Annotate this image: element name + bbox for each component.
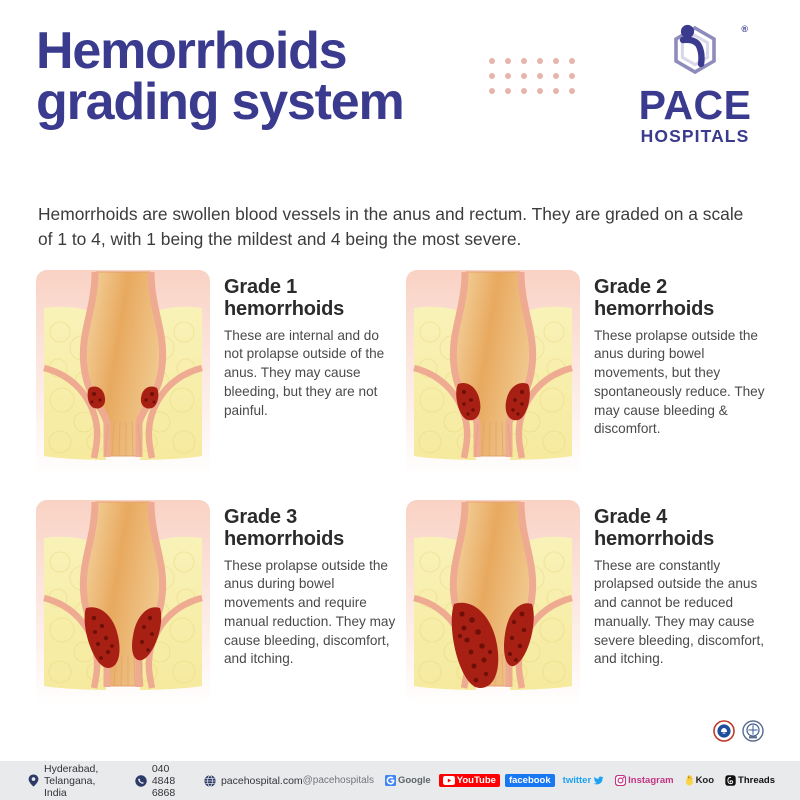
social-twitter[interactable]: twitter: [560, 774, 608, 788]
youtube-icon: [443, 776, 455, 785]
grades-row-1: Grade 1 hemorrhoids These are internal a…: [34, 270, 766, 482]
grade-card-1: Grade 1 hemorrhoids These are internal a…: [34, 270, 396, 482]
page-title: Hemorrhoids grading system: [36, 26, 506, 128]
globe-icon: [204, 775, 216, 787]
decorative-dot: [537, 88, 543, 94]
grade-4-text: Grade 4 hemorrhoids These are constantly…: [594, 500, 766, 712]
grade-2-description: These prolapse outside the anus during b…: [594, 327, 766, 440]
page-title-line-2: grading system: [36, 77, 506, 128]
grade-2-title-line-1: Grade 2: [594, 276, 667, 298]
grades-grid: Grade 1 hemorrhoids These are internal a…: [0, 270, 800, 712]
threads-icon: [725, 775, 736, 786]
decorative-dot: [569, 58, 575, 64]
pace-hospitals-logo: ® PACE HOSPITALS: [620, 22, 770, 146]
nabl-accreditation-badge-icon: [742, 720, 764, 742]
footer-social: @pacehospitals Google YouTube facebook: [303, 773, 800, 788]
decorative-dot: [553, 73, 559, 79]
footer-contacts: Hyderabad, Telangana, India 040 4848 686…: [0, 763, 303, 799]
grade-3-title-line-1: Grade 3: [224, 506, 297, 528]
decorative-dot: [489, 88, 495, 94]
social-facebook[interactable]: facebook: [505, 774, 555, 788]
social-koo-label: Koo: [696, 776, 714, 786]
grade-1-illustration: [34, 270, 212, 482]
social-youtube-label: YouTube: [457, 776, 496, 786]
footer-phone[interactable]: 040 4848 6868: [135, 763, 187, 799]
grade-1-text: Grade 1 hemorrhoids These are internal a…: [224, 270, 396, 482]
decorative-dot: [537, 73, 543, 79]
anorectal-cross-section-grade-3-icon: [34, 500, 212, 712]
footer-website-label: pacehospital.com: [221, 775, 303, 787]
decorative-dot: [489, 73, 495, 79]
koo-bird-icon: [685, 775, 694, 786]
social-google-label: Google: [398, 776, 431, 786]
footer-location[interactable]: Hyderabad, Telangana, India: [28, 763, 118, 799]
anorectal-cross-section-grade-2-icon: [404, 270, 582, 482]
hexagon-person-logo-icon: [664, 22, 726, 82]
decorative-dot: [569, 73, 575, 79]
grade-3-title: Grade 3 hemorrhoids: [224, 506, 396, 551]
social-threads-label: Threads: [738, 776, 775, 786]
social-instagram[interactable]: Instagram: [612, 773, 676, 788]
decorative-dot: [505, 73, 511, 79]
decorative-dot: [553, 58, 559, 64]
instagram-icon: [615, 775, 626, 786]
decorative-dot: [521, 88, 527, 94]
decorative-dot-grid: [489, 58, 585, 103]
grade-3-description: These prolapse outside the anus during b…: [224, 557, 396, 670]
grade-2-title-line-2: hemorrhoids: [594, 298, 714, 320]
decorative-dot: [553, 88, 559, 94]
google-icon: [385, 775, 396, 786]
social-threads[interactable]: Threads: [722, 773, 778, 788]
page-title-line-1: Hemorrhoids: [36, 22, 346, 80]
grade-4-illustration: [404, 500, 582, 712]
social-koo[interactable]: Koo: [682, 773, 717, 788]
grade-card-4: Grade 4 hemorrhoids These are constantly…: [404, 500, 766, 712]
footer-phone-label: 040 4848 6868: [152, 763, 187, 799]
decorative-dot: [489, 58, 495, 64]
anorectal-cross-section-grade-4-icon: [404, 500, 582, 712]
footer-website[interactable]: pacehospital.com: [204, 775, 303, 787]
accreditation-badges: [713, 720, 764, 742]
grade-1-title-line-2: hemorrhoids: [224, 298, 344, 320]
anorectal-cross-section-grade-1-icon: [34, 270, 212, 482]
grade-2-text: Grade 2 hemorrhoids These prolapse outsi…: [594, 270, 766, 482]
grade-card-3: Grade 3 hemorrhoids These prolapse outsi…: [34, 500, 396, 712]
logo-subword: HOSPITALS: [620, 128, 770, 146]
grades-row-2: Grade 3 hemorrhoids These prolapse outsi…: [34, 500, 766, 712]
decorative-dot: [537, 58, 543, 64]
grade-2-title: Grade 2 hemorrhoids: [594, 276, 766, 321]
footer-location-label: Hyderabad, Telangana, India: [44, 763, 118, 799]
grade-4-title: Grade 4 hemorrhoids: [594, 506, 766, 551]
grade-1-title: Grade 1 hemorrhoids: [224, 276, 396, 321]
infographic-page: Hemorrhoids grading system ® PACE HOSPIT…: [0, 0, 800, 800]
grade-4-title-line-2: hemorrhoids: [594, 528, 714, 550]
grade-3-illustration: [34, 500, 212, 712]
social-youtube[interactable]: YouTube: [439, 774, 500, 788]
grade-1-description: These are internal and do not prolapse o…: [224, 327, 396, 421]
social-instagram-label: Instagram: [628, 776, 673, 786]
registered-trademark-icon: ®: [741, 24, 748, 34]
grade-4-title-line-1: Grade 4: [594, 506, 667, 528]
decorative-dot: [521, 58, 527, 64]
intro-paragraph: Hemorrhoids are swollen blood vessels in…: [0, 202, 800, 252]
logo-wordmark: PACE: [620, 85, 770, 126]
grade-4-description: These are constantly prolapsed outside t…: [594, 557, 766, 670]
decorative-dot: [521, 73, 527, 79]
decorative-dot: [505, 58, 511, 64]
grade-3-text: Grade 3 hemorrhoids These prolapse outsi…: [224, 500, 396, 712]
decorative-dot: [569, 88, 575, 94]
grade-3-title-line-2: hemorrhoids: [224, 528, 344, 550]
grade-card-2: Grade 2 hemorrhoids These prolapse outsi…: [404, 270, 766, 482]
decorative-dot: [505, 88, 511, 94]
social-twitter-label: twitter: [563, 776, 592, 786]
phone-icon: [135, 775, 147, 787]
footer-bar: Hyderabad, Telangana, India 040 4848 686…: [0, 761, 800, 800]
logo-mark: ®: [620, 22, 770, 84]
nabh-accreditation-badge-icon: [713, 720, 735, 742]
social-facebook-label: facebook: [509, 776, 551, 786]
grade-2-illustration: [404, 270, 582, 482]
header: Hemorrhoids grading system ® PACE HOSPIT…: [0, 0, 800, 196]
location-pin-icon: [28, 774, 39, 787]
twitter-bird-icon: [593, 776, 604, 786]
social-google[interactable]: Google: [382, 773, 434, 788]
grade-1-title-line-1: Grade 1: [224, 276, 297, 298]
social-handle: @pacehospitals: [303, 775, 374, 786]
